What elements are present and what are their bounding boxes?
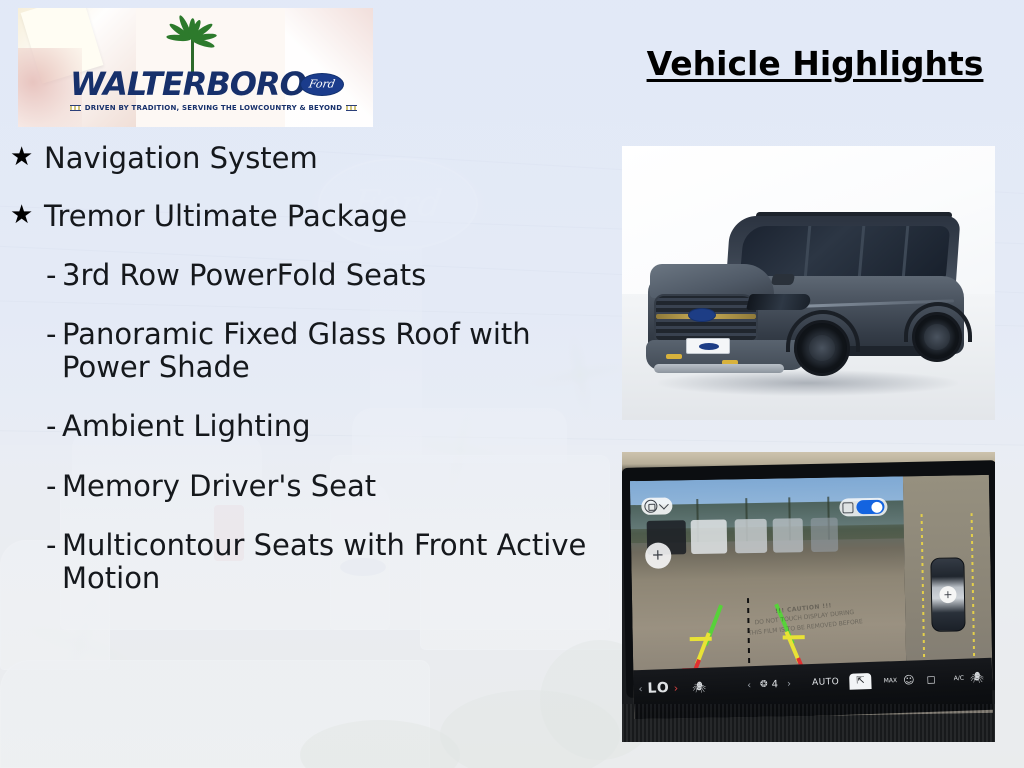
driver-temperature-value: LO: [647, 680, 674, 697]
heated-seat-icon[interactable]: 🕷: [686, 680, 712, 694]
center-guideline: [747, 598, 750, 669]
parked-vehicle: [691, 520, 727, 554]
infotainment-screen-image: !!! CAUTION !!! DO NOT TOUCH DISPLAY DUR…: [622, 452, 995, 742]
film-warning-line-1: !!! CAUTION !!!: [713, 595, 893, 623]
touchscreen[interactable]: !!! CAUTION !!! DO NOT TOUCH DISPLAY DUR…: [630, 475, 993, 719]
dash-bullet-icon: -: [46, 259, 62, 291]
toggle-knob: [871, 502, 882, 513]
temp-increase-button[interactable]: ›: [674, 681, 687, 694]
dealer-logo: WALTERBORO DRIVEN BY TRADITION, SERVING …: [18, 8, 373, 127]
license-plate: [686, 338, 730, 354]
passenger-seat-icon[interactable]: 🕷: [964, 670, 990, 684]
parked-vehicle: [811, 518, 839, 552]
list-item: - Multicontour Seats with Front Active M…: [10, 529, 610, 594]
feature-list: ★ Navigation System ★ Tremor Ultimate Pa…: [10, 142, 610, 621]
dealer-tagline: DRIVEN BY TRADITION, SERVING THE LOWCOUN…: [85, 104, 342, 112]
fog-light: [666, 354, 682, 359]
list-item: - Ambient Lighting: [10, 410, 610, 442]
fan-increase-button[interactable]: ›: [782, 678, 796, 689]
star-bullet-icon: ★: [10, 142, 44, 173]
toggle-track[interactable]: [856, 500, 884, 514]
star-bullet-icon: ★: [10, 200, 44, 231]
fan-speed-control[interactable]: ‹ ❂ 4 ›: [742, 678, 796, 691]
window-glass: [740, 226, 951, 278]
camera-icon: [644, 499, 657, 512]
ford-oval-icon: [300, 73, 344, 96]
list-item: - Panoramic Fixed Glass Roof with Power …: [10, 318, 610, 383]
airflow-mode-button[interactable]: ⇱: [849, 673, 872, 690]
guideline-tick: [690, 637, 712, 641]
slide-canvas: WALTERBORO DRIVEN BY TRADITION, SERVING …: [0, 0, 1024, 768]
rear-defrost-icon[interactable]: ◻: [920, 672, 942, 686]
dealer-name: WALTERBORO: [70, 68, 306, 100]
feature-text: Memory Driver's Seat: [62, 470, 610, 502]
rear-wheel: [912, 312, 962, 362]
page-title: Vehicle Highlights: [620, 44, 1010, 83]
dealer-tagline-row: DRIVEN BY TRADITION, SERVING THE LOWCOUN…: [70, 104, 357, 112]
sensor-icon: [842, 502, 853, 513]
list-item: - 3rd Row PowerFold Seats: [10, 259, 610, 291]
max-defrost-label[interactable]: MAX: [884, 677, 898, 684]
feature-text: Navigation System: [44, 142, 610, 174]
dash-bullet-icon: -: [46, 410, 62, 442]
parked-vehicle: [773, 519, 804, 553]
film-warning-line-2: DO NOT TOUCH DISPLAY DURING: [714, 604, 894, 632]
camera-feature-toggle[interactable]: [839, 498, 887, 517]
camera-view-selector[interactable]: [641, 497, 672, 515]
dashboard-trim: [622, 704, 995, 742]
feature-text: Tremor Ultimate Package: [44, 200, 610, 232]
skid-plate: [654, 364, 784, 373]
tagline-rule-right: [346, 105, 357, 111]
ford-badge-icon: [688, 308, 716, 322]
feature-text: Panoramic Fixed Glass Roof with Power Sh…: [62, 318, 610, 383]
dash-bullet-icon: -: [46, 318, 62, 350]
headlight: [746, 294, 812, 310]
auto-climate-button[interactable]: AUTO: [812, 677, 840, 688]
fan-speed-value: 4: [771, 679, 778, 690]
fan-decrease-button[interactable]: ‹: [742, 679, 756, 690]
parked-vehicle: [734, 519, 767, 553]
list-item: - Memory Driver's Seat: [10, 470, 610, 502]
film-warning-line-3: THIS FILM IS TO BE REMOVED BEFORE: [715, 613, 895, 641]
suv-illustration: [644, 198, 974, 398]
temp-decrease-button[interactable]: ‹: [633, 683, 647, 694]
feature-text: Ambient Lighting: [62, 410, 610, 442]
fan-icon: ❂: [760, 680, 768, 690]
ac-button[interactable]: A/C: [954, 674, 965, 681]
dash-bullet-icon: -: [46, 470, 62, 502]
guideline-tick: [783, 635, 805, 639]
chevron-down-icon: [659, 499, 669, 509]
front-defrost-icon[interactable]: ☺: [897, 673, 921, 687]
list-item: ★ Tremor Ultimate Package: [10, 200, 610, 232]
tagline-rule-left: [70, 105, 81, 111]
front-wheel: [794, 320, 850, 376]
side-mirror: [771, 274, 795, 285]
vehicle-hero-image: [622, 146, 995, 420]
feature-text: Multicontour Seats with Front Active Mot…: [62, 529, 610, 594]
list-item: ★ Navigation System: [10, 142, 610, 174]
camera-zoom-in-button[interactable]: +: [645, 542, 671, 568]
feature-text: 3rd Row PowerFold Seats: [62, 259, 610, 291]
hood: [650, 264, 774, 298]
dash-bullet-icon: -: [46, 529, 62, 561]
